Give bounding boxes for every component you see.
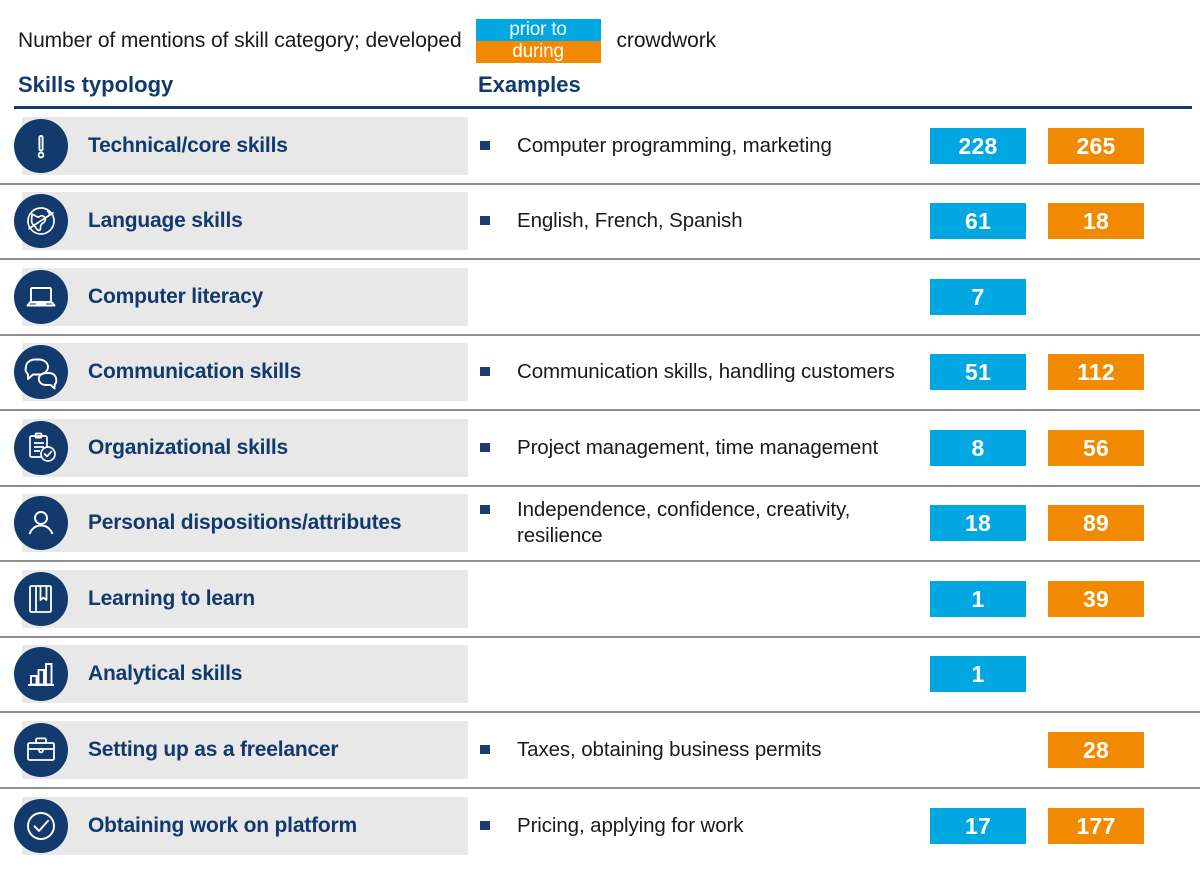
value-cell-during: 177 <box>1048 789 1166 865</box>
bullet-icon <box>480 216 490 225</box>
header-skills-typology: Skills typology <box>18 72 173 98</box>
table-row: Computer literacy 7 <box>0 260 1200 336</box>
value-chip-during: 28 <box>1048 732 1144 768</box>
caption-row: Number of mentions of skill category; de… <box>0 0 1200 66</box>
exclamation-icon <box>14 119 68 173</box>
category-label: Obtaining work on platform <box>88 814 357 838</box>
value-cell-during: 89 <box>1048 487 1166 561</box>
category-label: Organizational skills <box>88 436 288 460</box>
value-cell-prior: 8 <box>930 411 1048 485</box>
value-cell-during: 265 <box>1048 109 1166 183</box>
category-cell: Organizational skills <box>0 411 468 485</box>
value-chip-prior: 8 <box>930 430 1026 466</box>
bullet-icon <box>480 367 490 376</box>
category-label: Computer literacy <box>88 285 263 309</box>
examples-cell: Project management, time management <box>468 411 930 485</box>
caption-text-after: crowdwork <box>617 29 716 53</box>
value-chip-during: 112 <box>1048 354 1144 390</box>
value-chip-prior: 18 <box>930 505 1026 541</box>
value-cell-prior: 228 <box>930 109 1048 183</box>
value-chip-prior: 228 <box>930 128 1026 164</box>
bullet-icon <box>480 443 490 452</box>
value-cell-during <box>1048 638 1166 712</box>
value-cell-during: 56 <box>1048 411 1166 485</box>
value-cell-during <box>1048 260 1166 334</box>
example-text: Independence, confidence, creativity, re… <box>517 497 930 549</box>
category-label: Setting up as a freelancer <box>88 738 338 762</box>
examples-cell <box>468 260 930 334</box>
table-row: Personal dispositions/attributes Indepen… <box>0 487 1200 563</box>
value-chip-during: 18 <box>1048 203 1144 239</box>
person-icon <box>14 496 68 550</box>
table-row: Communication skills Communication skill… <box>0 336 1200 412</box>
value-chip-prior: 61 <box>930 203 1026 239</box>
value-chip-during: 39 <box>1048 581 1144 617</box>
value-chip-prior: 1 <box>930 581 1026 617</box>
briefcase-icon <box>14 723 68 777</box>
value-chip-during: 265 <box>1048 128 1144 164</box>
examples-cell: Taxes, obtaining business permits <box>468 713 930 787</box>
example-text: Taxes, obtaining business permits <box>517 737 821 763</box>
category-cell: Computer literacy <box>0 260 468 334</box>
bullet-icon <box>480 505 490 514</box>
legend-chip-during: during <box>476 41 601 63</box>
laptop-icon <box>14 270 68 324</box>
category-cell: Obtaining work on platform <box>0 789 468 865</box>
value-chip-during: 56 <box>1048 430 1144 466</box>
bullet-icon <box>480 141 490 150</box>
category-cell: Technical/core skills <box>0 109 468 183</box>
column-headers: Skills typology Examples <box>0 72 1200 106</box>
example-text: Project management, time management <box>517 435 878 461</box>
value-chip-prior: 51 <box>930 354 1026 390</box>
category-cell: Learning to learn <box>0 562 468 636</box>
category-label: Language skills <box>88 209 243 233</box>
value-chip-prior: 7 <box>930 279 1026 315</box>
value-cell-prior: 17 <box>930 789 1048 865</box>
example-text: English, French, Spanish <box>517 208 743 234</box>
category-label: Personal dispositions/attributes <box>88 511 401 535</box>
value-cell-prior: 7 <box>930 260 1048 334</box>
table-row: Obtaining work on platform Pricing, appl… <box>0 789 1200 865</box>
table-row: Analytical skills 1 <box>0 638 1200 714</box>
category-label: Learning to learn <box>88 587 255 611</box>
clipboard-check-icon <box>14 421 68 475</box>
legend-chip-prior-to: prior to <box>476 19 601 41</box>
skills-table: Technical/core skills Computer programmi… <box>0 109 1200 864</box>
category-cell: Analytical skills <box>0 638 468 712</box>
example-text: Communication skills, handling customers <box>517 359 895 385</box>
table-row: Organizational skills Project management… <box>0 411 1200 487</box>
category-cell: Communication skills <box>0 336 468 410</box>
examples-cell <box>468 638 930 712</box>
value-cell-during: 112 <box>1048 336 1166 410</box>
examples-cell: English, French, Spanish <box>468 185 930 259</box>
category-cell: Language skills <box>0 185 468 259</box>
value-cell-prior: 1 <box>930 562 1048 636</box>
table-row: Language skills English, French, Spanish… <box>0 185 1200 261</box>
slide-root: Number of mentions of skill category; de… <box>0 0 1200 877</box>
value-cell-during: 39 <box>1048 562 1166 636</box>
bullet-icon <box>480 821 490 830</box>
value-cell-prior: 18 <box>930 487 1048 561</box>
bar-chart-icon <box>14 647 68 701</box>
caption-text-before: Number of mentions of skill category; de… <box>18 29 462 53</box>
book-icon <box>14 572 68 626</box>
examples-cell: Computer programming, marketing <box>468 109 930 183</box>
examples-cell: Independence, confidence, creativity, re… <box>468 487 930 561</box>
table-row: Learning to learn 1 39 <box>0 562 1200 638</box>
example-text: Computer programming, marketing <box>517 133 832 159</box>
bullet-icon <box>480 745 490 754</box>
example-text: Pricing, applying for work <box>517 813 743 839</box>
value-cell-during: 28 <box>1048 713 1166 787</box>
speech-bubbles-icon <box>14 345 68 399</box>
value-cell-prior <box>930 713 1048 787</box>
examples-cell <box>468 562 930 636</box>
category-label: Communication skills <box>88 360 301 384</box>
table-row: Setting up as a freelancer Taxes, obtain… <box>0 713 1200 789</box>
value-chip-during: 89 <box>1048 505 1144 541</box>
value-cell-prior: 61 <box>930 185 1048 259</box>
value-cell-prior: 1 <box>930 638 1048 712</box>
value-chip-prior: 1 <box>930 656 1026 692</box>
category-label: Analytical skills <box>88 662 242 686</box>
check-circle-icon <box>14 799 68 853</box>
legend: prior to during <box>476 19 601 63</box>
category-cell: Personal dispositions/attributes <box>0 487 468 561</box>
value-cell-prior: 51 <box>930 336 1048 410</box>
category-cell: Setting up as a freelancer <box>0 713 468 787</box>
header-examples: Examples <box>478 72 581 98</box>
examples-cell: Pricing, applying for work <box>468 789 930 865</box>
examples-cell: Communication skills, handling customers <box>468 336 930 410</box>
value-cell-during: 18 <box>1048 185 1166 259</box>
category-label: Technical/core skills <box>88 134 288 158</box>
value-chip-during: 177 <box>1048 808 1144 844</box>
globe-icon <box>14 194 68 248</box>
table-row: Technical/core skills Computer programmi… <box>0 109 1200 185</box>
value-chip-prior: 17 <box>930 808 1026 844</box>
